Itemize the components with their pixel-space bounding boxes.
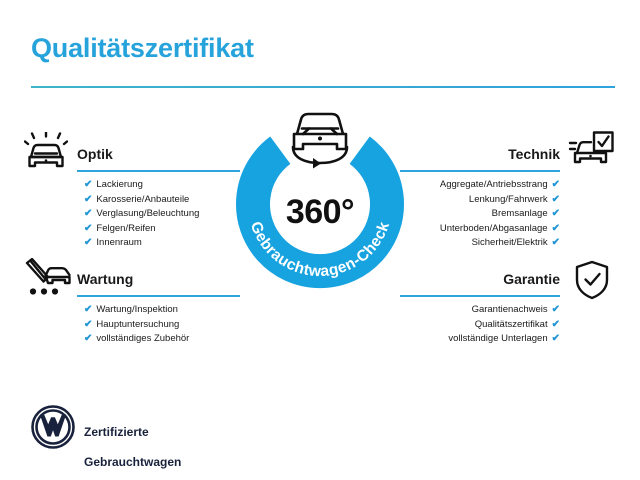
shield-check-icon — [574, 260, 610, 305]
checklist-optik: ✔Lackierung ✔Karosserie/Anbauteile ✔Verg… — [84, 178, 199, 251]
car-shine-icon — [24, 132, 68, 179]
list-item-label: Innenraum — [96, 237, 141, 248]
list-item-label: Wartung/Inspektion — [96, 304, 178, 315]
list-item: Aggregate/Antriebsstrang✔ — [440, 178, 560, 193]
footer-line-2: Gebrauchtwagen — [84, 455, 181, 470]
header-divider — [31, 86, 615, 88]
section-divider-wartung — [77, 295, 240, 297]
list-item: Garantienachweis✔ — [448, 303, 560, 318]
check-icon: ✔ — [84, 237, 92, 248]
list-item-label: Verglasung/Beleuchtung — [96, 208, 199, 219]
list-item-label: Aggregate/Antriebsstrang — [440, 179, 548, 190]
list-item: ✔Innenraum — [84, 236, 199, 251]
list-item-label: Bremsanlage — [492, 208, 548, 219]
checklist-garantie: Garantienachweis✔ Qualitätszertifikat✔ v… — [448, 303, 560, 347]
list-item: ✔Hauptuntersuchung — [84, 318, 189, 333]
check-icon: ✔ — [552, 194, 560, 205]
list-item: ✔vollständiges Zubehör — [84, 332, 189, 347]
section-title-optik: Optik — [77, 146, 113, 162]
check-icon: ✔ — [552, 223, 560, 234]
list-item-label: Hauptuntersuchung — [96, 319, 179, 330]
vw-logo-icon — [31, 405, 75, 454]
check-icon: ✔ — [552, 237, 560, 248]
section-title-wartung: Wartung — [77, 271, 133, 287]
car-front-rotate-icon — [279, 104, 361, 175]
list-item: ✔Karosserie/Anbauteile — [84, 193, 199, 208]
check-icon: ✔ — [84, 333, 92, 344]
list-item-label: Sicherheit/Elektrik — [472, 237, 548, 248]
list-item-label: Unterboden/Abgasanlage — [440, 223, 548, 234]
list-item: ✔Felgen/Reifen — [84, 222, 199, 237]
check-icon: ✔ — [552, 304, 560, 315]
list-item: ✔Lackierung — [84, 178, 199, 193]
car-checkbox-icon — [568, 131, 614, 178]
footer-line-1: Zertifizierte — [84, 425, 181, 440]
list-item-label: Garantienachweis — [472, 304, 548, 315]
check-icon: ✔ — [552, 333, 560, 344]
check-icon: ✔ — [552, 208, 560, 219]
list-item-label: Qualitätszertifikat — [475, 319, 548, 330]
list-item-label: Karosserie/Anbauteile — [96, 194, 189, 205]
badge-360-gebrauchtwagen-check: Gebrauchtwagen-Check 360° — [228, 112, 412, 296]
page-title: Qualitätszertifikat — [31, 33, 254, 64]
list-item-label: Felgen/Reifen — [96, 223, 155, 234]
check-icon: ✔ — [84, 179, 92, 190]
list-item: Sicherheit/Elektrik✔ — [440, 236, 560, 251]
section-divider-technik — [400, 170, 560, 172]
list-item: Lenkung/Fahrwerk✔ — [440, 193, 560, 208]
check-icon: ✔ — [84, 319, 92, 330]
checklist-technik: Aggregate/Antriebsstrang✔ Lenkung/Fahrwe… — [440, 178, 560, 251]
list-item-label: Lackierung — [96, 179, 142, 190]
check-icon: ✔ — [84, 304, 92, 315]
checklist-wartung: ✔Wartung/Inspektion ✔Hauptuntersuchung ✔… — [84, 303, 189, 347]
section-title-garantie: Garantie — [503, 271, 560, 287]
list-item: Unterboden/Abgasanlage✔ — [440, 222, 560, 237]
list-item: vollständige Unterlagen✔ — [448, 332, 560, 347]
list-item-label: vollständiges Zubehör — [96, 333, 189, 344]
certificate-page: Qualitätszertifikat — [0, 0, 640, 480]
section-divider-garantie — [400, 295, 560, 297]
section-title-technik: Technik — [508, 146, 560, 162]
section-divider-optik — [77, 170, 240, 172]
check-icon: ✔ — [552, 179, 560, 190]
check-icon: ✔ — [552, 319, 560, 330]
check-icon: ✔ — [84, 223, 92, 234]
wrench-car-icon — [24, 258, 72, 303]
list-item: ✔Wartung/Inspektion — [84, 303, 189, 318]
list-item-label: vollständige Unterlagen — [448, 333, 547, 344]
footer-text: Zertifizierte Gebrauchtwagen — [84, 410, 181, 480]
list-item: ✔Verglasung/Beleuchtung — [84, 207, 199, 222]
check-icon: ✔ — [84, 194, 92, 205]
list-item-label: Lenkung/Fahrwerk — [469, 194, 548, 205]
check-icon: ✔ — [84, 208, 92, 219]
list-item: Qualitätszertifikat✔ — [448, 318, 560, 333]
list-item: Bremsanlage✔ — [440, 207, 560, 222]
